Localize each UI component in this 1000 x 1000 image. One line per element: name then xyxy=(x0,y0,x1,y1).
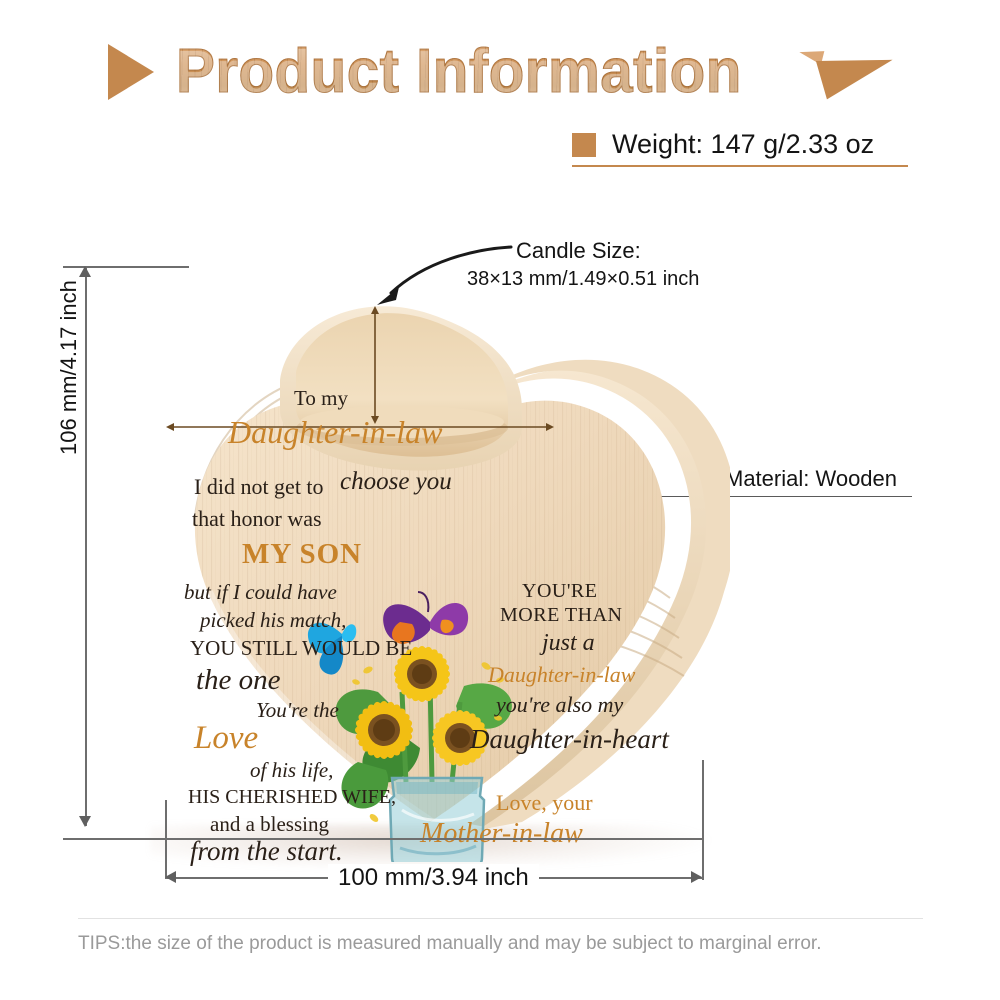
page-title: Product Information xyxy=(176,36,742,107)
width-arrow-right-icon xyxy=(691,871,702,883)
width-left-extension-line xyxy=(165,800,167,878)
width-dimension-label: 100 mm/3.94 inch xyxy=(328,864,539,892)
bullet-square-icon xyxy=(572,133,596,157)
weight-underline xyxy=(572,165,908,167)
weight-info: Weight: 147 g/2.33 oz xyxy=(572,129,874,160)
weight-label: Weight: 147 g/2.33 oz xyxy=(612,129,874,160)
height-bottom-tick xyxy=(63,838,703,840)
height-arrow-down-icon xyxy=(79,816,91,827)
height-dimension-line xyxy=(85,268,87,826)
material-label: Material: Wooden xyxy=(725,466,897,492)
width-right-extension-line xyxy=(702,760,704,880)
candle-size-title: Candle Size: xyxy=(516,238,641,264)
height-arrow-up-icon xyxy=(79,266,91,277)
height-dimension-label: 106 mm/4.17 inch xyxy=(56,280,82,455)
width-arrow-left-icon xyxy=(165,871,176,883)
left-arrow-decoration xyxy=(108,44,154,100)
right-arrow-decoration xyxy=(816,41,898,100)
product-image: To my Daughter-in-law I did not get to c… xyxy=(130,262,730,862)
footer-divider xyxy=(78,918,923,919)
tips-text: TIPS:the size of the product is measured… xyxy=(78,933,821,955)
